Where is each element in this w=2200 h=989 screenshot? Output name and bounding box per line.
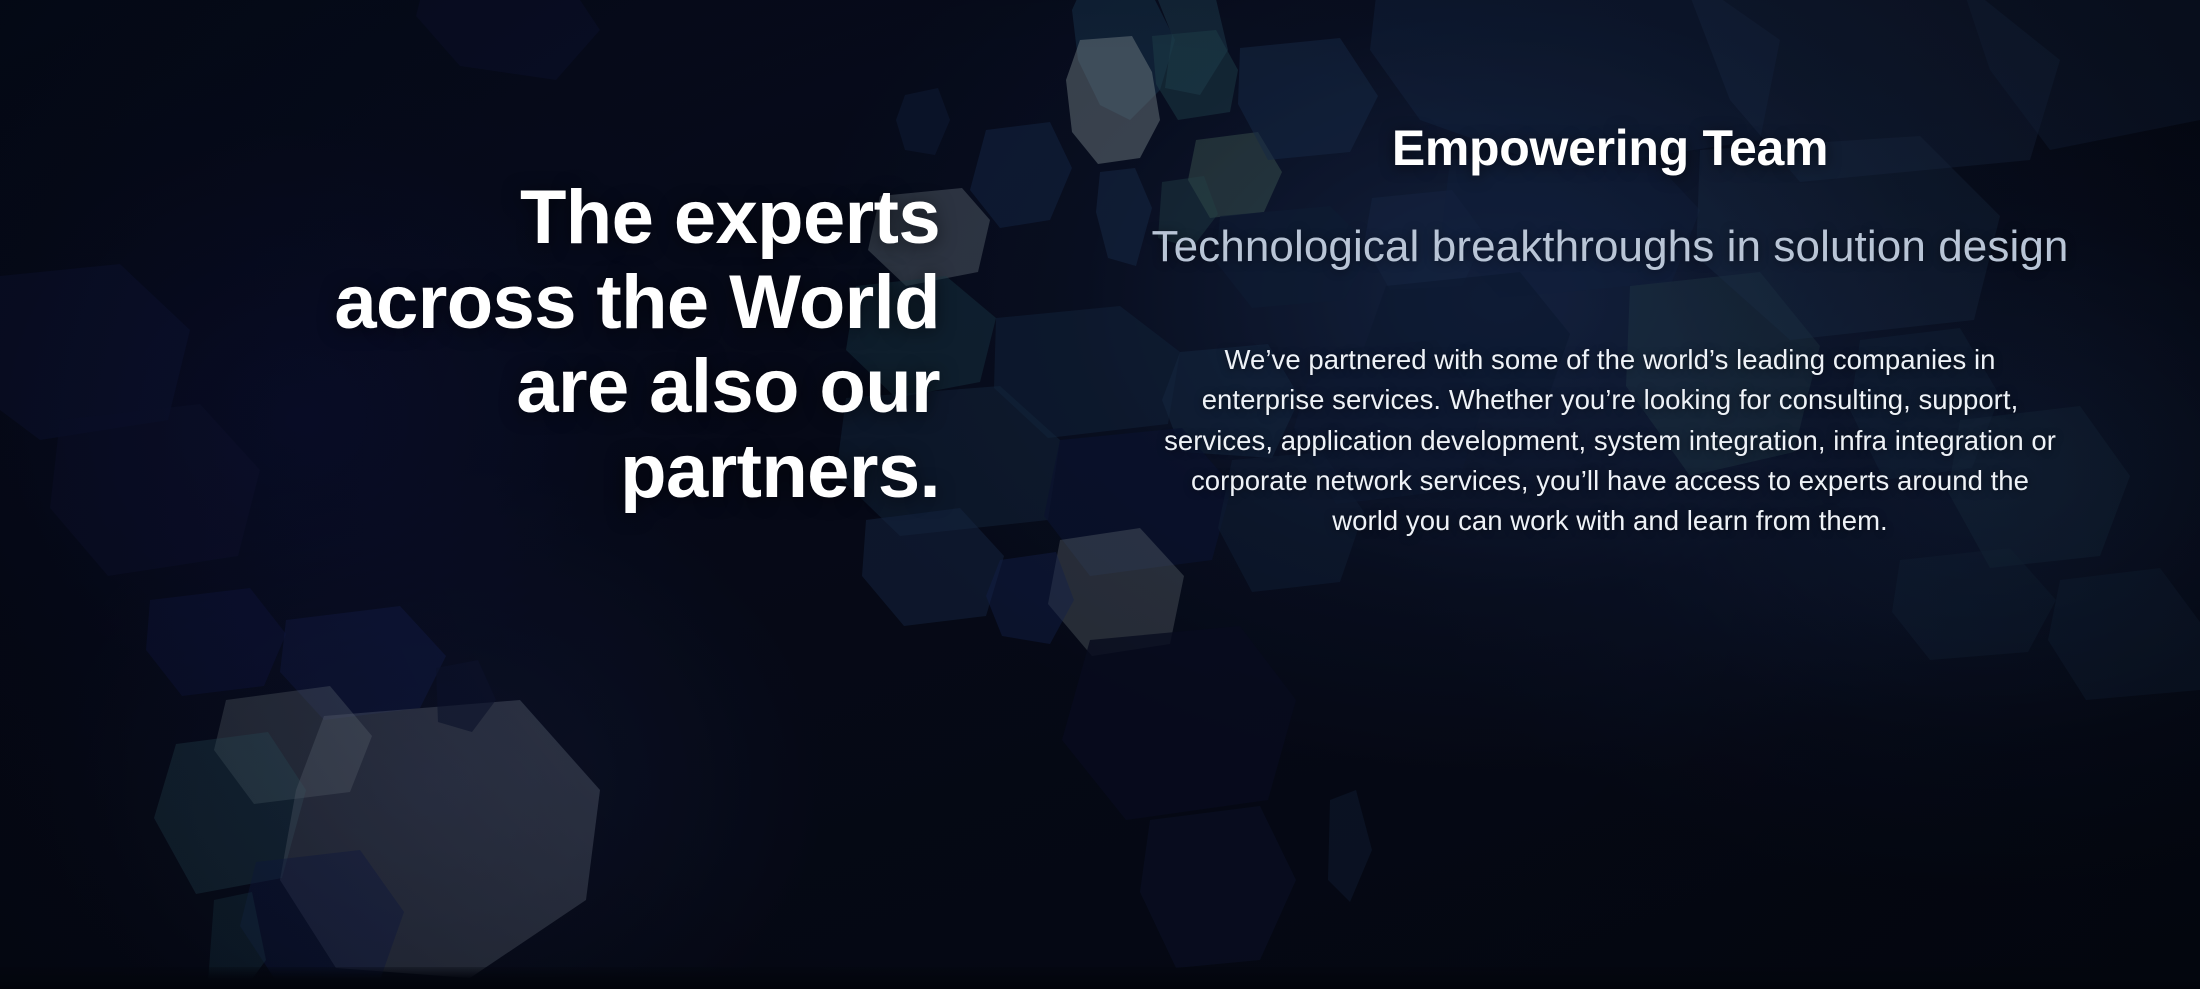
panel-subtitle: Technological breakthroughs in solution …	[1150, 220, 2070, 274]
panel-title: Empowering Team	[1150, 120, 2070, 176]
panel-body-text: We’ve partnered with some of the world’s…	[1150, 340, 2070, 541]
bottom-edge-band	[0, 967, 2200, 989]
hero-section: The experts across the World are also ou…	[0, 0, 2200, 989]
hero-headline: The experts across the World are also ou…	[60, 176, 940, 515]
hero-text-panel: Empowering Team Technological breakthrou…	[1150, 120, 2070, 542]
